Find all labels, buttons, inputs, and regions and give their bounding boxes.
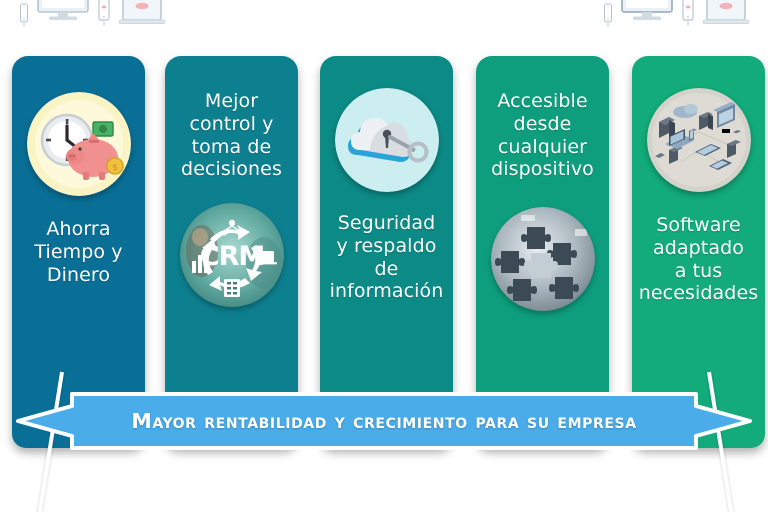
- title-line: a tus: [639, 260, 759, 283]
- title-line: y respaldo: [330, 235, 444, 258]
- title-line: dispositivo: [491, 158, 594, 181]
- desktop-monitor-icon: [620, 0, 674, 28]
- title-line: toma de: [181, 136, 282, 159]
- device-icon-strip-left: [18, 0, 166, 28]
- title-line: control y: [181, 113, 282, 136]
- title-line: Software: [639, 214, 759, 237]
- svg-text:CRM: CRM: [199, 241, 263, 272]
- cloud-key-security-icon: [335, 88, 439, 192]
- smartphone-icon: [18, 0, 30, 28]
- tablet-icon: [680, 0, 696, 28]
- title-line: cualquier: [491, 136, 594, 159]
- title-line: Tiempo y: [34, 241, 122, 264]
- title-line: Mejor: [181, 90, 282, 113]
- isometric-devices-icon: [647, 88, 751, 192]
- infographic-canvas: $ Ahorra Tiempo y Dinero Mejor control y…: [0, 0, 768, 512]
- crm-cycle-icon: CRM: [180, 203, 284, 307]
- banner-text: Mayor rentabilidad y crecimiento para su…: [14, 390, 754, 452]
- device-icon-strip-right: [602, 0, 750, 28]
- column-title-ahorra: Ahorra Tiempo y Dinero: [34, 218, 122, 286]
- svg-text:$: $: [112, 163, 118, 173]
- title-line: decisiones: [181, 158, 282, 181]
- smartphone-icon: [602, 0, 614, 28]
- desktop-monitor-icon: [36, 0, 90, 28]
- column-title-accesible: Accesible desde cualquier dispositivo: [491, 90, 594, 181]
- column-title-seguridad: Seguridad y respaldo de información: [330, 212, 444, 303]
- title-line: Accesible: [491, 90, 594, 113]
- laptop-icon: [118, 0, 166, 28]
- title-line: información: [330, 280, 444, 303]
- bottom-banner[interactable]: Mayor rentabilidad y crecimiento para su…: [14, 390, 754, 452]
- column-title-software: Software adaptado a tus necesidades: [639, 214, 759, 305]
- title-line: Seguridad: [330, 212, 444, 235]
- column-title-control: Mejor control y toma de decisiones: [181, 90, 282, 181]
- title-line: Dinero: [34, 264, 122, 287]
- clock-piggybank-icon: $: [27, 92, 131, 196]
- title-line: de: [330, 258, 444, 281]
- title-line: Ahorra: [34, 218, 122, 241]
- title-line: adaptado: [639, 237, 759, 260]
- title-line: desde: [491, 113, 594, 136]
- puzzle-pieces-icon: [491, 207, 595, 311]
- laptop-icon: [702, 0, 750, 28]
- tablet-icon: [96, 0, 112, 28]
- title-line: necesidades: [639, 282, 759, 305]
